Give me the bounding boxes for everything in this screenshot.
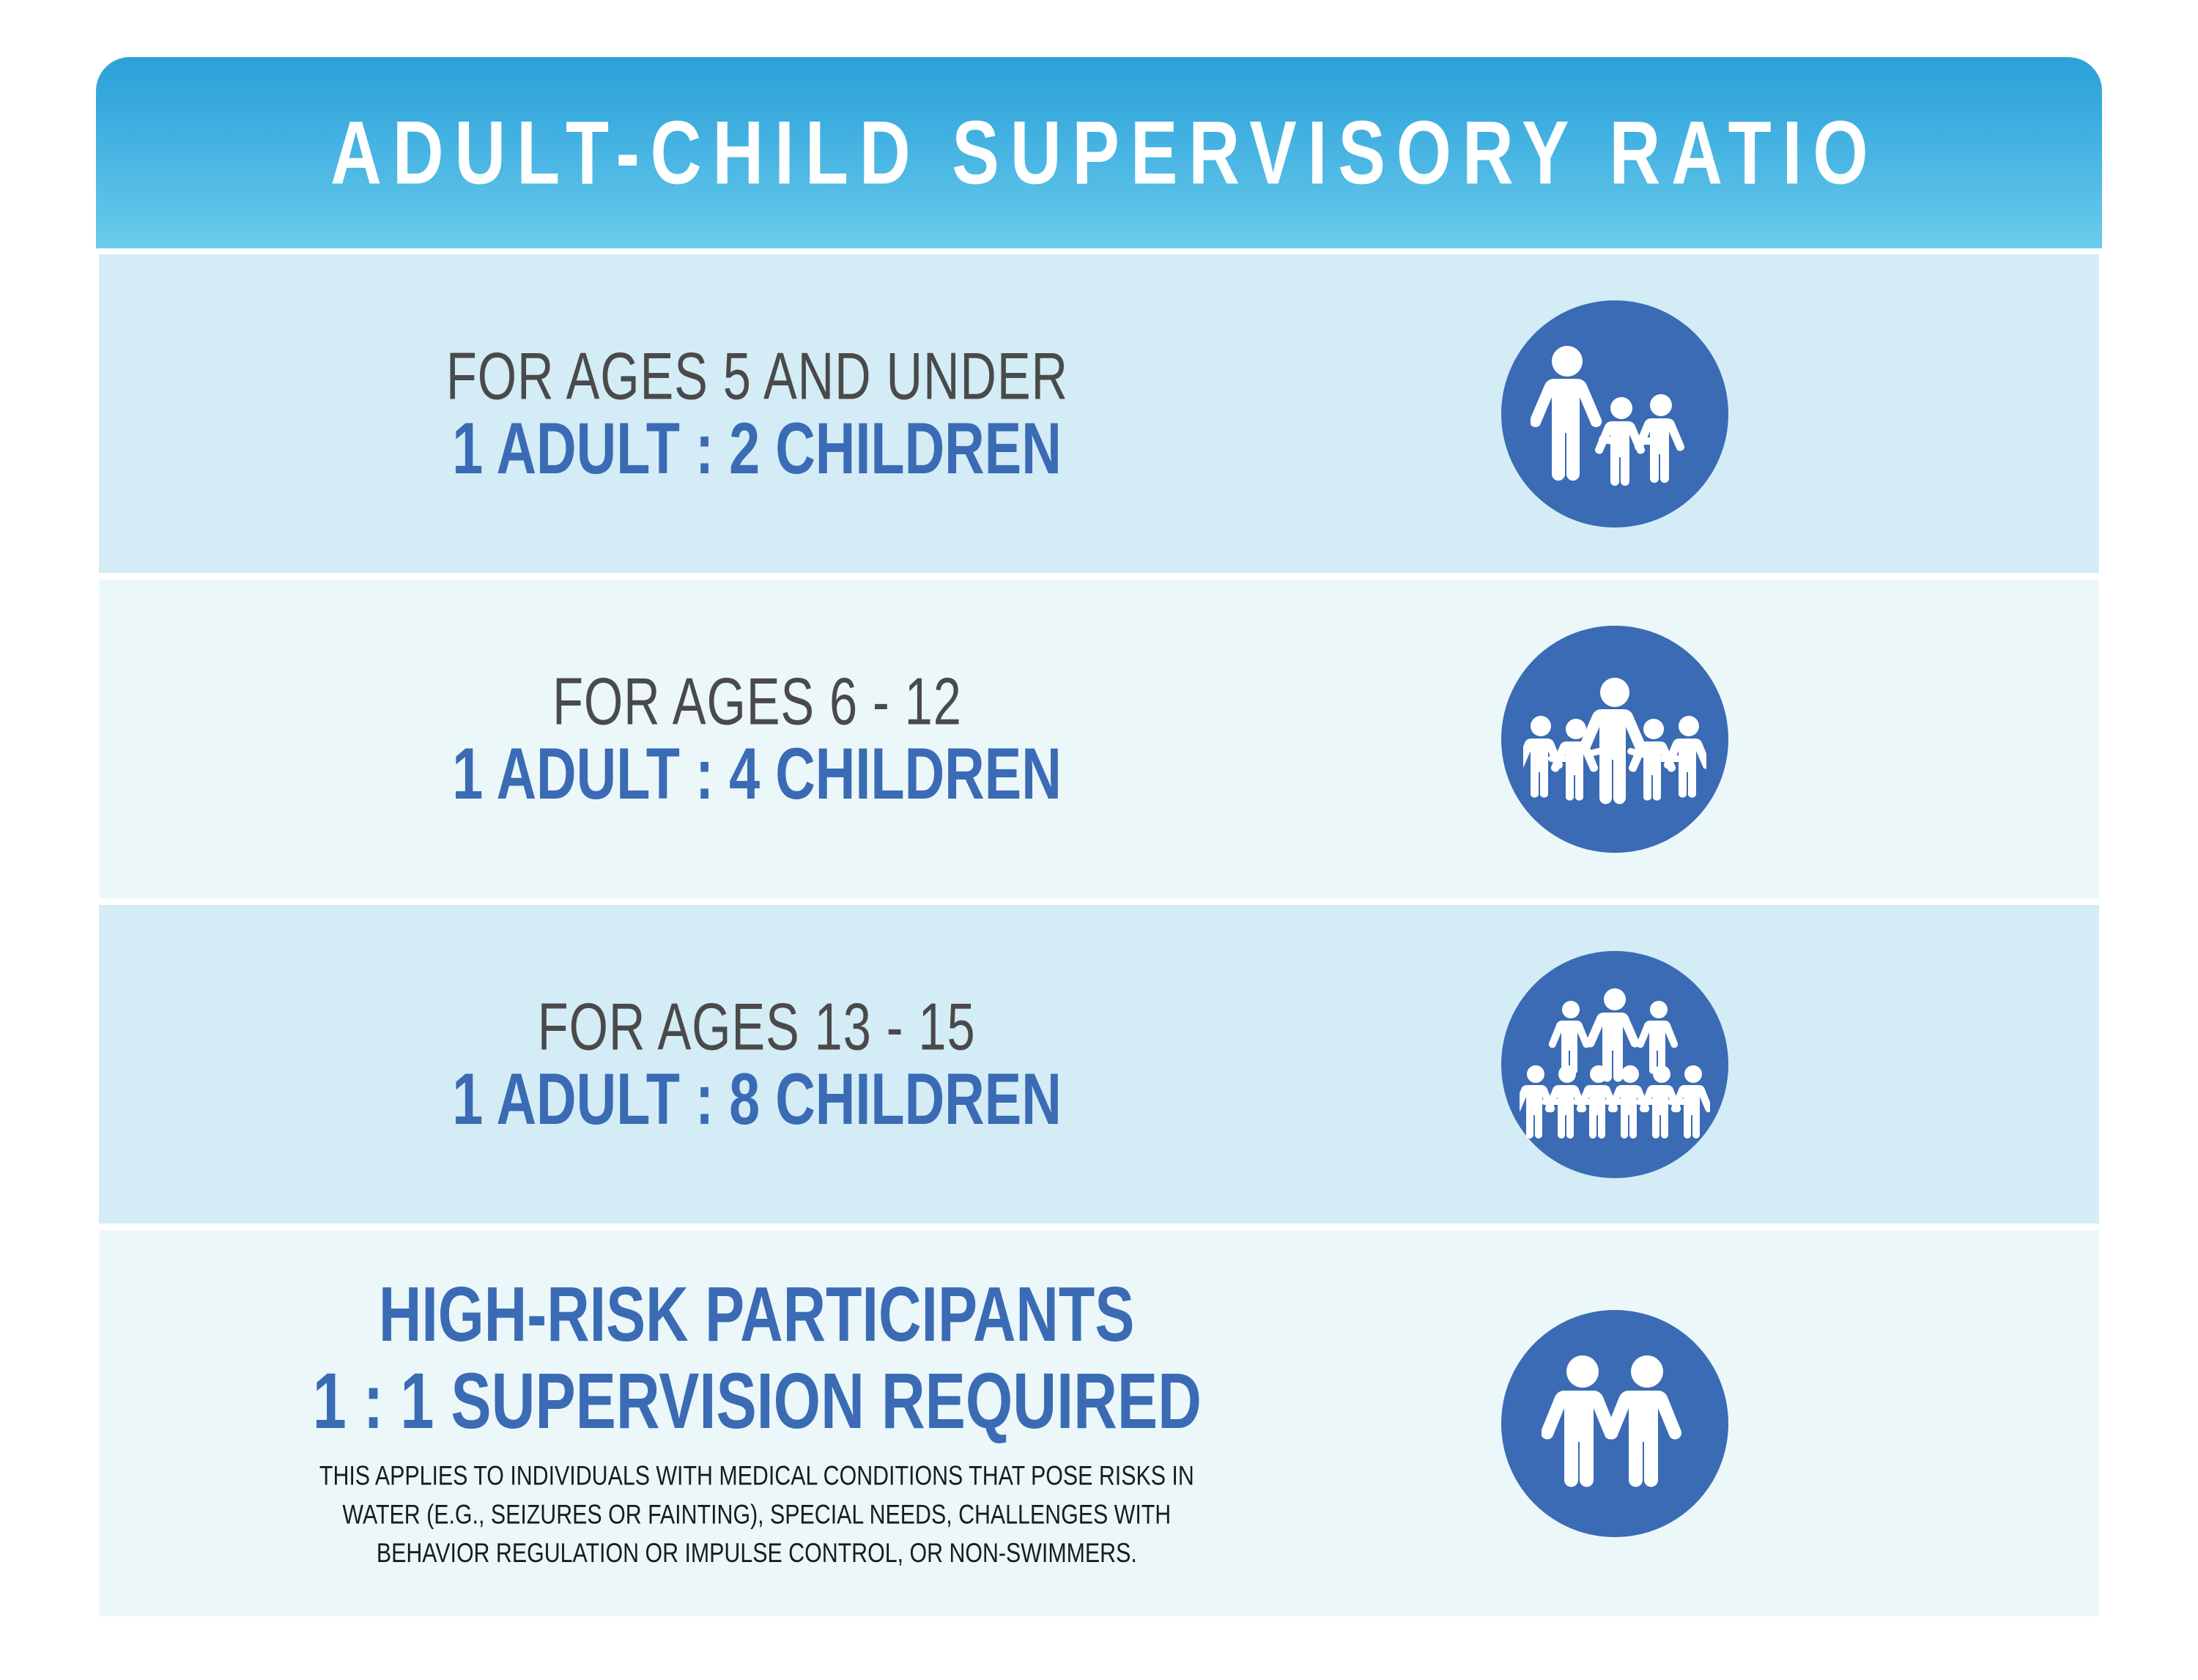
high-risk-subheading: 1 : 1 SUPERVISION REQUIRED — [312, 1361, 1201, 1443]
row-icon-wrapper — [1501, 1310, 1728, 1537]
ratio-value-label: 1 ADULT : 8 CHILDREN — [452, 1060, 1062, 1139]
one-adult-two-children-icon — [1501, 300, 1728, 528]
high-risk-note-line-3: BEHAVIOR REGULATION OR IMPULSE CONTROL, … — [319, 1533, 1194, 1572]
supervisory-ratio-card: ADULT-CHILD SUPERVISORY RATIO FOR AGES 5… — [96, 57, 2102, 1581]
high-risk-row: HIGH-RISK PARTICIPANTS 1 : 1 SUPERVISION… — [99, 1230, 2099, 1616]
high-risk-note: THIS APPLIES TO INDIVIDUALS WITH MEDICAL… — [319, 1457, 1194, 1572]
high-risk-heading: HIGH-RISK PARTICIPANTS — [379, 1274, 1134, 1355]
row-text-block: HIGH-RISK PARTICIPANTS 1 : 1 SUPERVISION… — [99, 1281, 1469, 1566]
two-adults-one-to-one-icon — [1501, 1310, 1728, 1537]
row-text-block: FOR AGES 6 - 12 1 ADULT : 4 CHILDREN — [99, 670, 1469, 807]
row-icon-wrapper — [1501, 300, 1728, 528]
one-adult-four-children-icon — [1501, 626, 1728, 853]
ratio-value-label: 1 ADULT : 2 CHILDREN — [452, 410, 1062, 488]
age-range-label: FOR AGES 5 AND UNDER — [445, 340, 1067, 412]
row-icon-wrapper — [1501, 626, 1728, 853]
ratio-row-ages-6-12: FOR AGES 6 - 12 1 ADULT : 4 CHILDREN — [99, 580, 2099, 898]
ratio-row-ages-5-and-under: FOR AGES 5 AND UNDER 1 ADULT : 2 CHILDRE… — [99, 254, 2099, 573]
age-range-label: FOR AGES 13 - 15 — [538, 991, 976, 1062]
ratio-value-label: 1 ADULT : 4 CHILDREN — [452, 735, 1062, 813]
age-range-label: FOR AGES 6 - 12 — [552, 665, 962, 737]
page-title: ADULT-CHILD SUPERVISORY RATIO — [319, 108, 1879, 198]
one-adult-eight-children-icon — [1501, 951, 1728, 1178]
ratio-row-ages-13-15: FOR AGES 13 - 15 1 ADULT : 8 CHILDREN — [99, 905, 2099, 1224]
row-icon-wrapper — [1501, 951, 1728, 1178]
high-risk-note-line-1: THIS APPLIES TO INDIVIDUALS WITH MEDICAL… — [319, 1457, 1194, 1495]
row-text-block: FOR AGES 13 - 15 1 ADULT : 8 CHILDREN — [99, 996, 1469, 1133]
high-risk-note-line-2: WATER (E.G., SEIZURES OR FAINTING), SPEC… — [319, 1495, 1194, 1533]
card-header: ADULT-CHILD SUPERVISORY RATIO — [96, 57, 2102, 248]
ratio-rows: FOR AGES 5 AND UNDER 1 ADULT : 2 CHILDRE… — [99, 254, 2099, 1616]
row-text-block: FOR AGES 5 AND UNDER 1 ADULT : 2 CHILDRE… — [99, 345, 1469, 482]
